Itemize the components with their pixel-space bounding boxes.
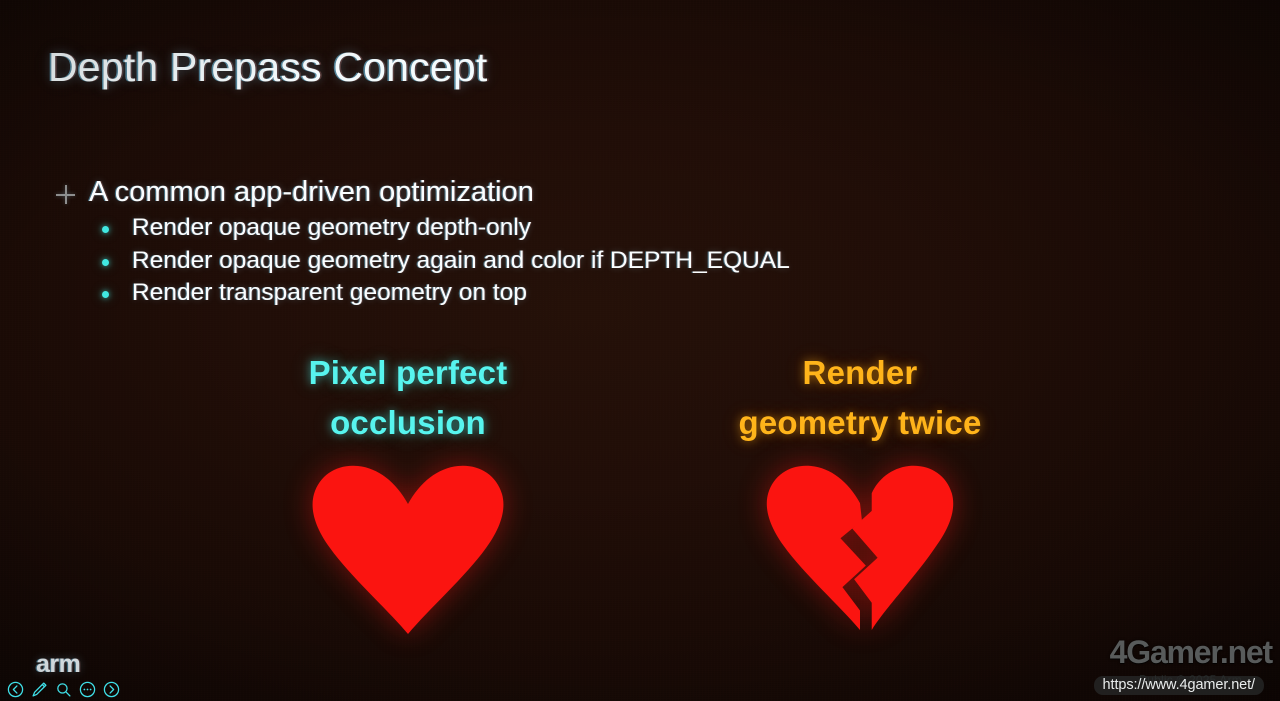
bullet-sublist: Render opaque geometry depth-only Render… bbox=[56, 214, 1056, 307]
broken-heart-illustration bbox=[680, 464, 1040, 632]
dot-marker-icon bbox=[102, 259, 109, 266]
dot-marker-icon bbox=[102, 226, 109, 233]
player-toolbar[interactable] bbox=[5, 679, 121, 699]
comparison-heading: Pixel perfect occlusion bbox=[228, 348, 588, 448]
watermark-brand: 4Gamer.net bbox=[1110, 634, 1272, 671]
comparison-column-render-twice: Render geometry twice bbox=[680, 348, 1040, 632]
watermark-url: https://www.4gamer.net/ bbox=[1094, 676, 1264, 695]
bullet-level1: A common app-driven optimization bbox=[56, 176, 1056, 208]
pen-icon[interactable] bbox=[29, 679, 49, 699]
bullet-level2: Render transparent geometry on top bbox=[102, 279, 1056, 307]
heart-icon bbox=[310, 464, 506, 636]
heart-illustration bbox=[228, 464, 588, 636]
bullet-level2-label: Render opaque geometry depth-only bbox=[132, 214, 531, 242]
bullet-list: A common app-driven optimization Render … bbox=[56, 176, 1056, 311]
comparison-column-pixel-perfect: Pixel perfect occlusion bbox=[228, 348, 588, 636]
comparison-row: Pixel perfect occlusion Render geometry … bbox=[0, 348, 1280, 658]
comparison-heading: Render geometry twice bbox=[680, 348, 1040, 448]
bullet-level1-label: A common app-driven optimization bbox=[89, 176, 534, 208]
bullet-level2-label: Render opaque geometry again and color i… bbox=[132, 247, 790, 275]
dot-marker-icon bbox=[102, 291, 109, 298]
bullet-level2: Render opaque geometry depth-only bbox=[102, 214, 1056, 242]
forward-arrow-icon[interactable] bbox=[101, 679, 121, 699]
magnifier-icon[interactable] bbox=[53, 679, 73, 699]
back-arrow-icon[interactable] bbox=[5, 679, 25, 699]
slide-photo-stage: Depth Prepass Concept A common app-drive… bbox=[0, 0, 1280, 701]
page-title: Depth Prepass Concept bbox=[48, 44, 488, 91]
broken-heart-icon bbox=[764, 464, 956, 632]
bullet-level2: Render opaque geometry again and color i… bbox=[102, 247, 1056, 275]
plus-marker-icon bbox=[56, 185, 75, 204]
more-icon[interactable] bbox=[77, 679, 97, 699]
arm-logo: arm bbox=[36, 650, 80, 679]
bullet-level2-label: Render transparent geometry on top bbox=[132, 279, 527, 307]
